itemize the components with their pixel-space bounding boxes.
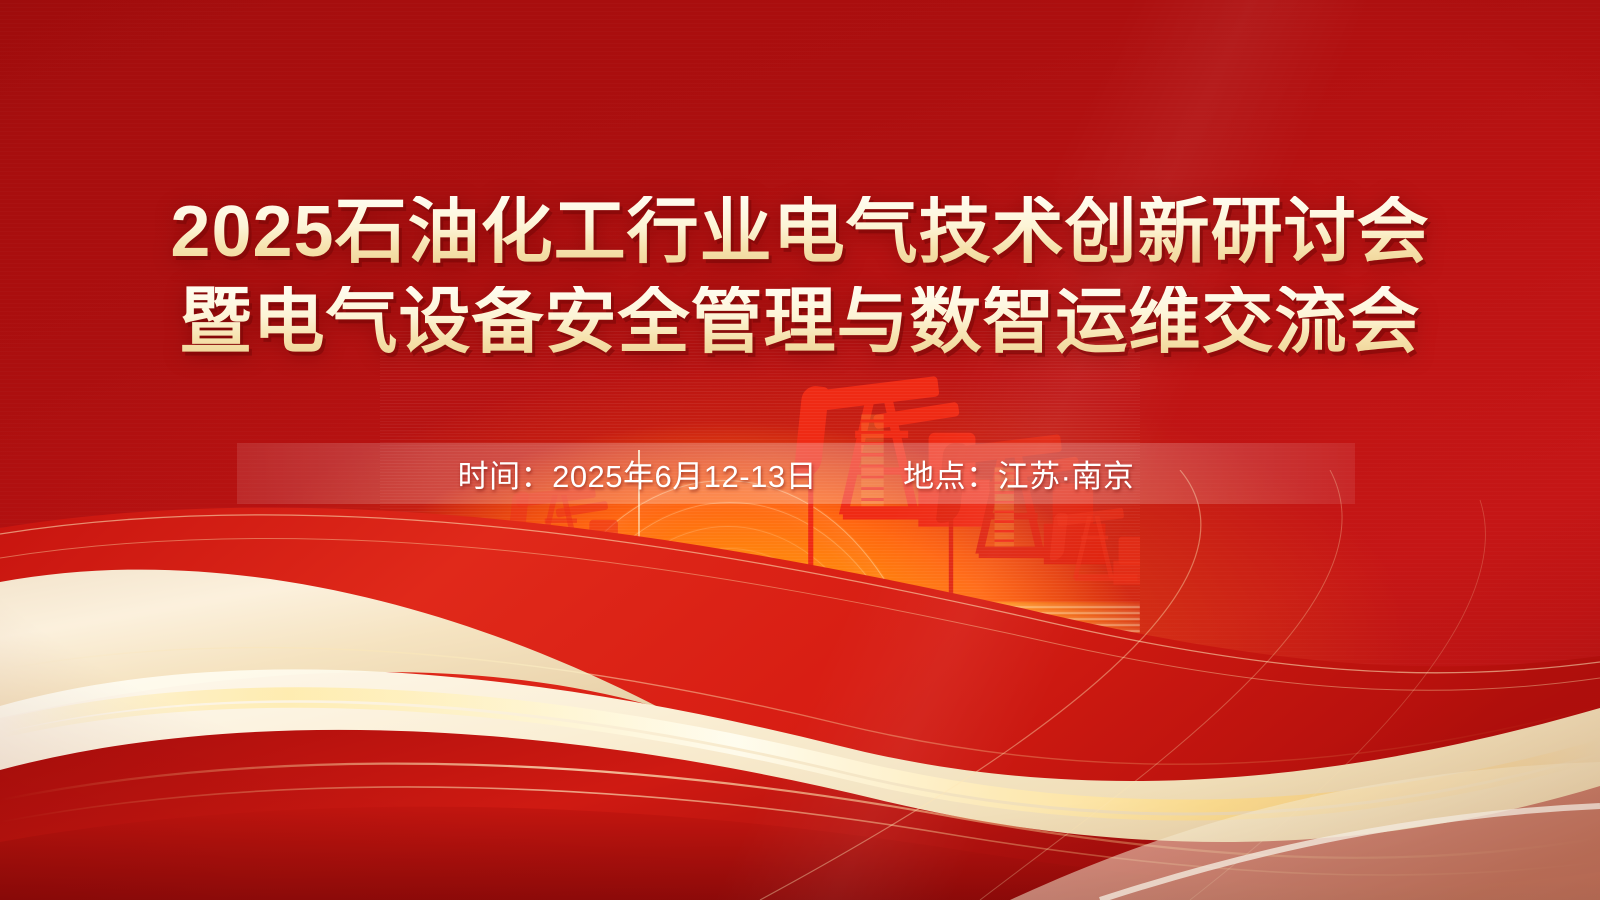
event-place: 地点：江苏·南京: [903, 451, 1134, 496]
title-line-1: 2025石油化工行业电气技术创新研讨会: [0, 196, 1600, 268]
event-time: 时间：2025年6月12-13日: [458, 451, 818, 496]
title-line-2: 暨电气设备安全管理与数智运维交流会: [0, 286, 1600, 358]
event-info-band: 时间：2025年6月12-13日 地点：江苏·南京: [237, 443, 1355, 504]
event-poster: 2025石油化工行业电气技术创新研讨会 暨电气设备安全管理与数智运维交流会 时间…: [0, 0, 1600, 900]
page-title: 2025石油化工行业电气技术创新研讨会 暨电气设备安全管理与数智运维交流会: [0, 196, 1600, 358]
